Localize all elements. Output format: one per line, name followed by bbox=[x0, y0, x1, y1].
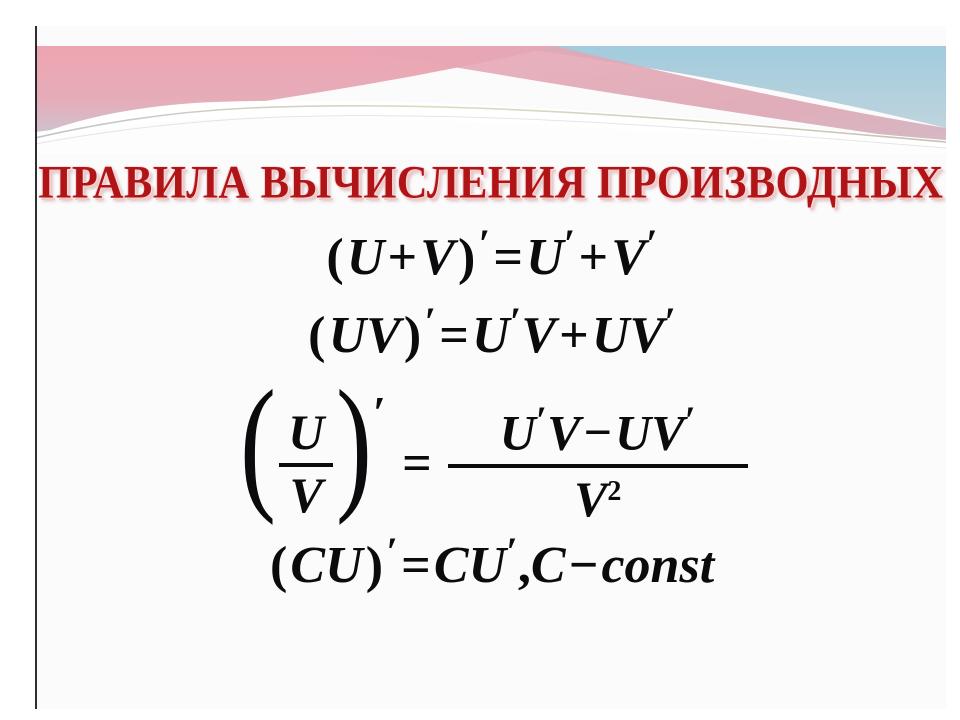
formula-product-rule-expression: (UV)′=U′V+UV′ bbox=[305, 307, 676, 364]
operator-equals: = bbox=[398, 537, 434, 594]
symbol-v-num2: V bbox=[651, 404, 684, 460]
symbol-u-term2: U bbox=[592, 307, 630, 364]
symbol-uv: UV bbox=[329, 307, 401, 364]
prime-mark-term1: ′ bbox=[510, 299, 522, 344]
prime-mark-u: ′ bbox=[506, 529, 518, 574]
inner-numerator-u: U bbox=[288, 406, 324, 459]
main-fraction-bar bbox=[448, 464, 748, 468]
quotient-denominator: V2 bbox=[574, 472, 621, 526]
symbol-u: U bbox=[347, 229, 385, 286]
formula-list: (U+V)′=U′+V′ (UV)′=U′V+UV′ ( U V bbox=[35, 214, 946, 592]
quotient-numerator: U′V−UV′ bbox=[500, 400, 696, 459]
prime-mark-u: ′ bbox=[564, 221, 576, 266]
symbol-u-num: U bbox=[500, 404, 536, 460]
quotient-left-side: ( U V ) ′ bbox=[233, 382, 386, 522]
comma-separator: , bbox=[518, 537, 531, 594]
symbol-v-term2: V bbox=[629, 307, 664, 364]
operator-equals: = bbox=[436, 307, 472, 364]
inner-denominator-v: V bbox=[290, 469, 323, 522]
operator-plus-right: + bbox=[575, 229, 611, 286]
symbol-c-right: C bbox=[434, 537, 469, 594]
prime-mark-v-num: ′ bbox=[684, 399, 695, 442]
wave-banner-graphic bbox=[35, 36, 946, 154]
prime-mark-v: ′ bbox=[646, 221, 658, 266]
prime-mark: ′ bbox=[424, 299, 436, 344]
symbol-v-num: V bbox=[547, 404, 580, 460]
slide-left-border bbox=[35, 26, 37, 709]
symbol-v-right: V bbox=[611, 229, 646, 286]
operator-equals: = bbox=[490, 229, 526, 286]
operator-plus: + bbox=[556, 307, 592, 364]
formula-sum-rule: (U+V)′=U′+V′ bbox=[35, 214, 946, 284]
formula-sum-rule-expression: (U+V)′=U′+V′ bbox=[323, 229, 658, 286]
paren-close: ) bbox=[401, 307, 425, 364]
prime-mark-outer: ′ bbox=[373, 390, 386, 436]
formula-product-rule: (UV)′=U′V+UV′ bbox=[35, 284, 946, 362]
prime-mark: ′ bbox=[478, 221, 490, 266]
symbol-cu: CU bbox=[290, 537, 362, 594]
formula-quotient-rule: ( U V ) ′ = U′V−UV′ V2 bbox=[35, 362, 946, 526]
label-const: const bbox=[601, 537, 714, 594]
operator-equals: = bbox=[390, 434, 444, 493]
symbol-c-label: C bbox=[531, 537, 566, 594]
wave-banner bbox=[35, 36, 946, 154]
symbol-v-den: V bbox=[574, 471, 607, 527]
symbol-v-term1: V bbox=[521, 307, 556, 364]
big-paren-open: ( bbox=[240, 382, 276, 505]
symbol-v: V bbox=[420, 229, 455, 286]
paren-close: ) bbox=[455, 229, 479, 286]
symbol-u-num2: U bbox=[615, 404, 651, 460]
big-paren-close: ) bbox=[336, 382, 372, 505]
formula-constant-multiple-expression: (CU)′=CU′,C−const bbox=[267, 537, 714, 594]
paren-open: ( bbox=[323, 229, 347, 286]
symbol-u-right: U bbox=[469, 537, 507, 594]
page-title-text: ПРАВИЛА ВЫЧИСЛЕНИЯ ПРОИЗВОДНЫХ bbox=[38, 158, 943, 206]
operator-minus: − bbox=[580, 404, 615, 460]
exponent-two: 2 bbox=[607, 476, 621, 507]
paren-open: ( bbox=[267, 537, 291, 594]
paren-close: ) bbox=[363, 537, 387, 594]
slide-root: ПРАВИЛА ВЫЧИСЛЕНИЯ ПРОИЗВОДНЫХ (U+V)′=U′… bbox=[0, 0, 960, 720]
symbol-u-term1: U bbox=[472, 307, 510, 364]
prime-mark-term2: ′ bbox=[664, 299, 676, 344]
inner-fraction-u-over-v: U V bbox=[275, 406, 337, 522]
slide-canvas: ПРАВИЛА ВЫЧИСЛЕНИЯ ПРОИЗВОДНЫХ (U+V)′=U′… bbox=[35, 26, 946, 709]
symbol-u-right: U bbox=[526, 229, 564, 286]
page-title: ПРАВИЛА ВЫЧИСЛЕНИЯ ПРОИЗВОДНЫХ bbox=[35, 158, 946, 200]
formula-constant-multiple-rule: (CU)′=CU′,C−const bbox=[35, 526, 946, 592]
prime-mark: ′ bbox=[386, 529, 398, 574]
quotient-right-fraction: U′V−UV′ V2 bbox=[448, 400, 748, 526]
operator-dash: − bbox=[566, 537, 602, 594]
prime-mark-u-num: ′ bbox=[536, 399, 547, 442]
operator-plus: + bbox=[384, 229, 420, 286]
paren-open: ( bbox=[305, 307, 329, 364]
